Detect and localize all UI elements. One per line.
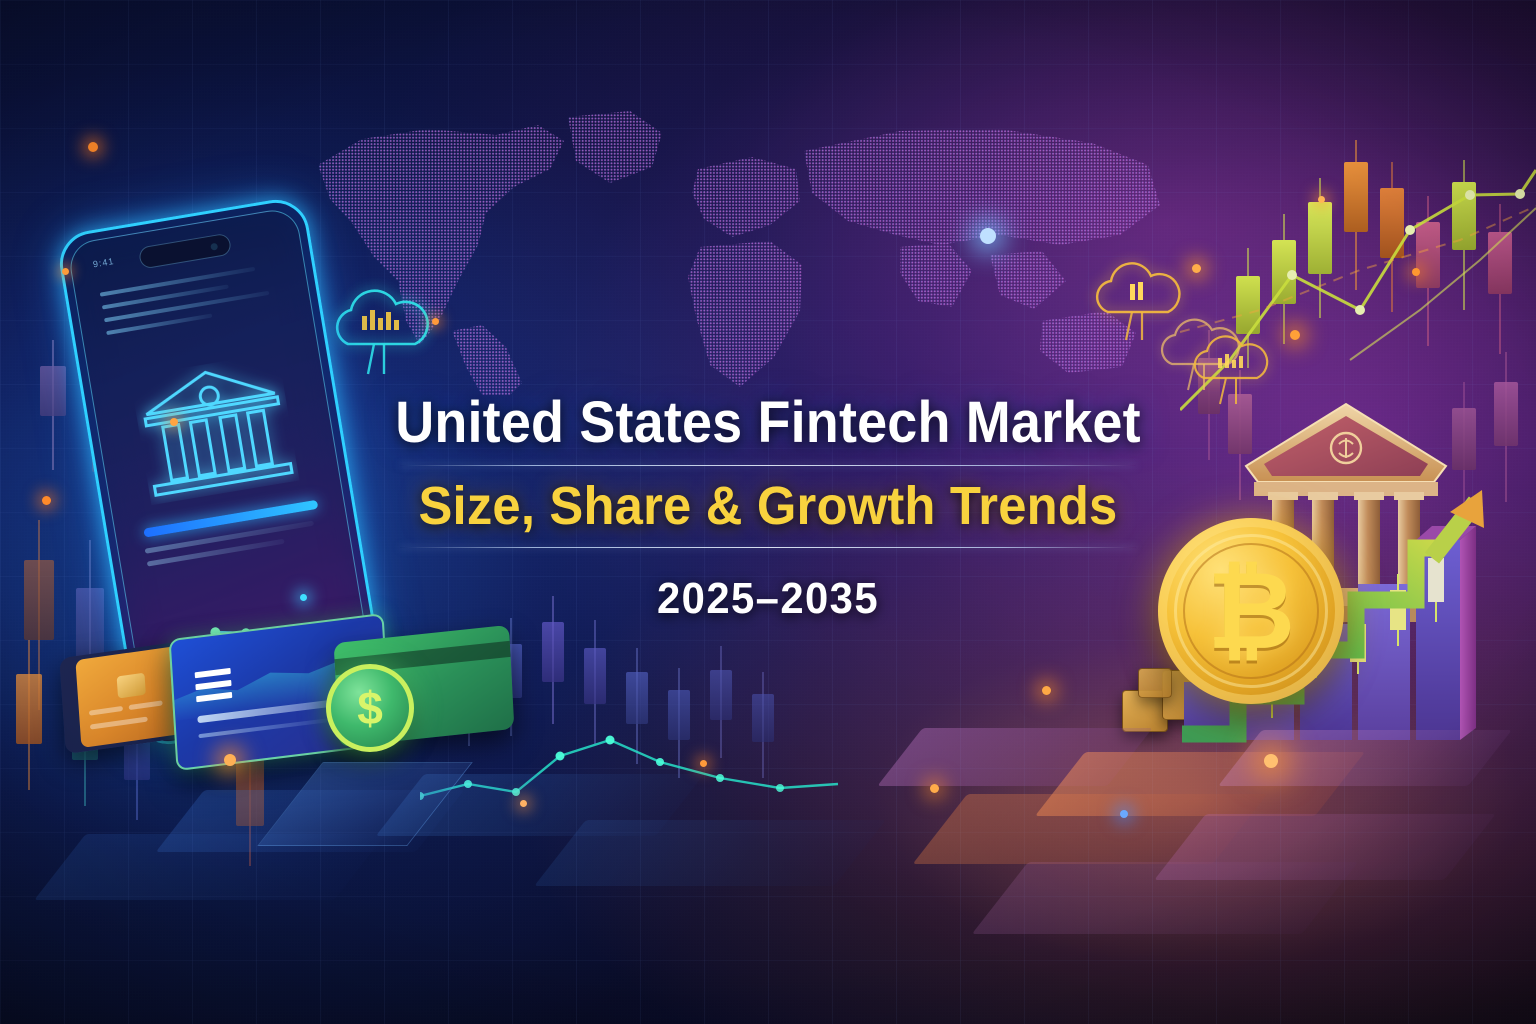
page-title: United States Fintech Market xyxy=(54,392,1482,453)
phone-text-lines xyxy=(100,263,284,344)
phone-notch xyxy=(138,233,232,270)
phone-status-text: 9:41 xyxy=(92,256,115,269)
fintech-banner: 9:41 xyxy=(0,0,1536,1024)
title-divider-bottom xyxy=(400,547,1136,548)
perspective-floor xyxy=(0,694,1536,1024)
page-subtitle: Size, Share & Growth Trends xyxy=(46,476,1490,536)
year-range-label: 2025–2035 xyxy=(38,574,1497,624)
title-block: United States Fintech Market Size, Share… xyxy=(0,392,1536,624)
cloud-icon xyxy=(322,282,440,378)
title-divider-top xyxy=(400,465,1136,466)
